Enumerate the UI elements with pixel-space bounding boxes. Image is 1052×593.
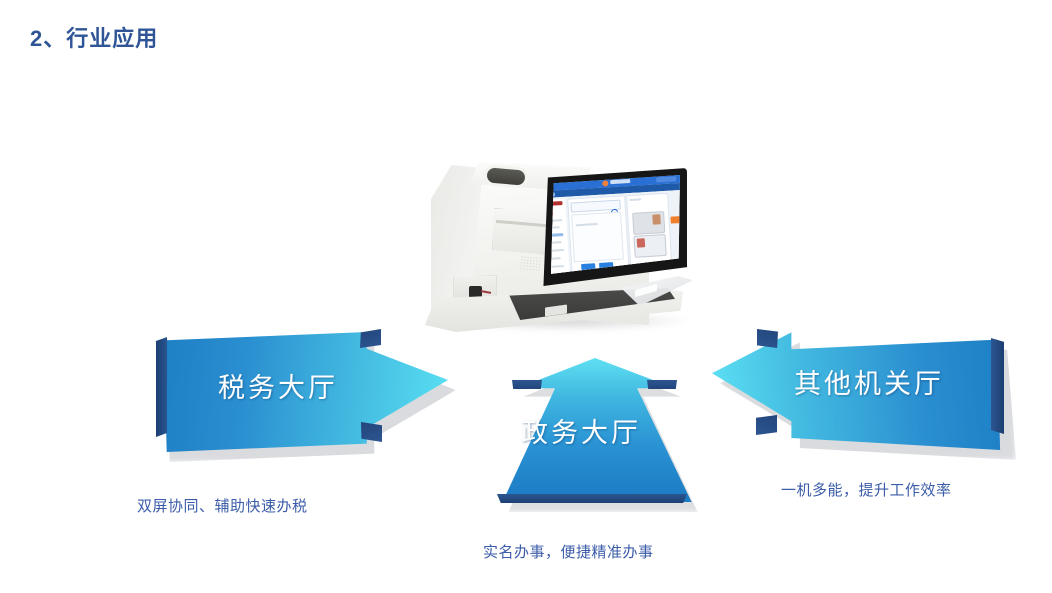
kiosk-device-illustration: [425, 160, 715, 340]
arrow-notch-tab-left: [512, 380, 542, 389]
arrow-tax-hall[interactable]: 税务大厅: [158, 332, 453, 462]
page-title: 2、行业应用: [30, 21, 158, 53]
caption-other-agency-hall: 一机多能，提升工作效率: [781, 479, 952, 500]
arrow-government-hall[interactable]: 政务大厅: [490, 358, 705, 508]
speaker-grille-icon: [519, 255, 540, 273]
arrow-notch-tab-bottom: [361, 422, 382, 442]
caption-government-hall: 实名办事，便捷精准办事: [483, 541, 654, 562]
screen-logo-icon: [602, 180, 608, 186]
arrow-notch-tab-right: [647, 380, 677, 389]
arrow-label-government-hall: 政务大厅: [521, 411, 641, 450]
printer-slot: [492, 208, 552, 255]
id-photo: [652, 214, 661, 224]
caption-tax-hall: 双屏协同、辅助快速办税: [137, 495, 308, 516]
screen-action-button: [670, 216, 680, 224]
camera-icon: [486, 167, 525, 185]
arrow-notch-tab-top: [360, 329, 381, 348]
arrow-label-other-agency-hall: 其他机关厅: [794, 362, 944, 401]
arrow-tail-edge: [991, 338, 1004, 434]
arrow-label-tax-hall: 税务大厅: [218, 366, 338, 405]
screen-form-body: [571, 212, 624, 263]
arrow-tail-edge: [156, 337, 167, 437]
arrow-other-agency-hall[interactable]: 其他机关厅: [712, 330, 1012, 460]
arrow-notch-tab-top: [757, 329, 778, 348]
official-seal-icon: [637, 238, 646, 247]
arrow-notch-tab-bottom: [756, 415, 777, 435]
arrow-base-edge: [495, 494, 689, 503]
slide-canvas: 2、行业应用: [0, 0, 1052, 593]
